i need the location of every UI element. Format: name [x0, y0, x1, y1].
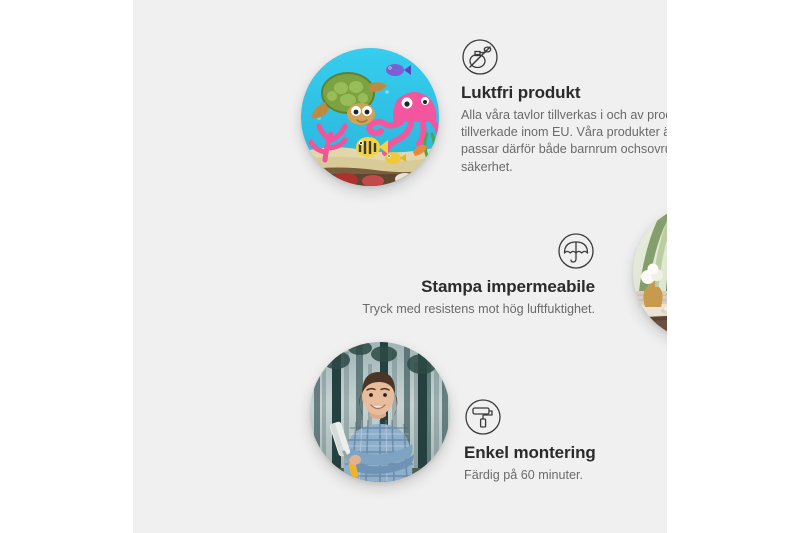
- feature-waterproof-print: Stampa impermeabile Tryck med resistens …: [295, 232, 595, 318]
- feature-body: Alla våra tavlor tillverkas i och av pro…: [461, 107, 667, 176]
- no-perfume-icon: [461, 38, 499, 76]
- feature-body: Färdig på 60 minuter.: [464, 467, 667, 484]
- underwater-cartoon-photo: [301, 48, 439, 186]
- feature-odour-free: Luktfri produkt Alla våra tavlor tillver…: [461, 38, 667, 176]
- feature-easy-mounting: Enkel montering Färdig på 60 minuter.: [464, 398, 667, 484]
- bathroom-wallpaper-photo: [633, 205, 667, 340]
- promo-page: Luktfri produkt Alla våra tavlor tillver…: [0, 0, 800, 533]
- feature-title: Enkel montering: [464, 442, 667, 464]
- paint-roller-icon: [464, 398, 502, 436]
- feature-title: Luktfri produkt: [461, 82, 667, 104]
- content-panel: Luktfri produkt Alla våra tavlor tillver…: [133, 0, 667, 533]
- painter-in-forest-photo: [310, 342, 450, 482]
- feature-body: Tryck med resistens mot hög luftfuktighe…: [295, 301, 595, 318]
- feature-title: Stampa impermeabile: [295, 276, 595, 298]
- umbrella-icon: [557, 232, 595, 270]
